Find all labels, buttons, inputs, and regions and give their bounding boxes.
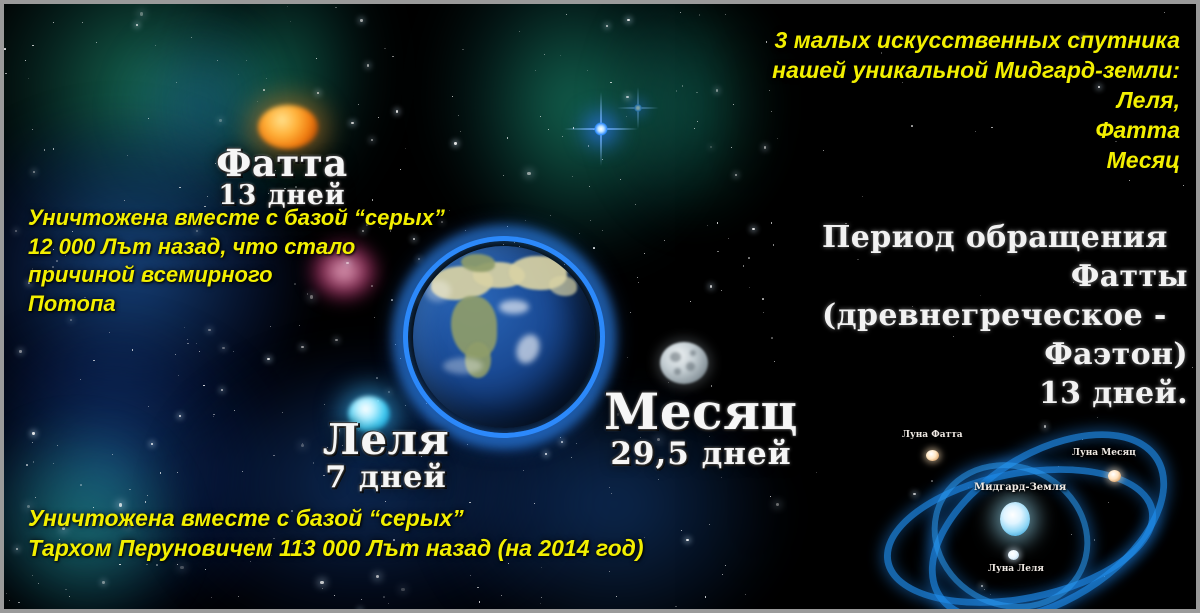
caption-lelya-destroyed: Уничтожена вместе с базой “серых” Тархом… xyxy=(28,504,644,564)
star xyxy=(400,169,401,170)
star xyxy=(367,64,369,66)
moon-crater xyxy=(670,352,681,362)
star xyxy=(155,45,156,46)
moon-mesyac-sphere xyxy=(660,342,708,384)
star xyxy=(102,581,104,583)
star-spike-horizontal xyxy=(564,128,638,130)
star xyxy=(238,74,240,76)
star xyxy=(449,210,450,211)
star xyxy=(35,497,36,498)
star xyxy=(392,56,394,58)
star-spike-vertical xyxy=(600,92,602,166)
star xyxy=(681,530,682,531)
orbit-diagram: Луна Фатта Луна Месяц Мидгард-Земля Луна… xyxy=(876,424,1188,610)
star xyxy=(32,432,34,434)
star xyxy=(686,539,688,541)
star xyxy=(690,301,691,302)
star xyxy=(470,575,471,576)
star xyxy=(53,463,54,464)
star xyxy=(358,104,359,105)
star xyxy=(541,567,542,568)
star xyxy=(862,196,863,197)
star xyxy=(147,495,148,496)
star xyxy=(566,14,567,15)
star xyxy=(709,524,710,525)
star xyxy=(136,24,138,26)
star xyxy=(525,220,526,221)
nebula-blue-cloud xyxy=(4,334,274,609)
star xyxy=(299,325,300,326)
star xyxy=(19,350,21,352)
star xyxy=(579,233,580,234)
star xyxy=(401,588,404,591)
star xyxy=(627,357,629,359)
star xyxy=(764,146,766,148)
star xyxy=(196,343,197,344)
star xyxy=(160,472,162,474)
star xyxy=(53,148,55,150)
star xyxy=(696,92,698,94)
star xyxy=(238,596,239,597)
star xyxy=(129,489,131,491)
star xyxy=(53,22,54,23)
period-line-4: Фаэтон) xyxy=(822,335,1188,374)
star xyxy=(388,391,390,393)
star xyxy=(766,41,768,43)
star-core xyxy=(594,122,608,136)
star xyxy=(523,470,525,472)
star xyxy=(587,70,588,71)
star xyxy=(611,493,613,495)
star xyxy=(217,60,218,61)
star xyxy=(242,471,243,472)
star xyxy=(588,145,590,147)
star xyxy=(540,116,541,117)
star xyxy=(16,548,18,550)
star xyxy=(548,129,549,130)
star xyxy=(763,312,764,313)
star xyxy=(816,472,817,473)
star xyxy=(15,230,17,232)
star xyxy=(9,600,11,602)
star xyxy=(748,257,750,259)
bright-star-blue xyxy=(564,92,638,166)
star xyxy=(184,327,185,328)
star xyxy=(728,238,730,240)
star xyxy=(6,593,7,594)
star xyxy=(322,588,323,589)
period-line-3: (древнегреческое - xyxy=(822,296,1188,335)
star xyxy=(335,339,337,341)
star xyxy=(383,596,385,598)
star xyxy=(540,603,542,605)
star xyxy=(313,462,315,464)
star xyxy=(573,127,575,129)
star xyxy=(1192,367,1193,368)
star xyxy=(710,146,712,148)
star xyxy=(70,319,72,321)
star xyxy=(211,597,212,598)
diagram-label-lelya: Луна Леля xyxy=(988,564,1044,574)
star xyxy=(82,22,83,23)
star xyxy=(221,389,223,391)
star xyxy=(388,603,389,604)
star xyxy=(609,571,610,572)
star xyxy=(544,54,545,55)
star xyxy=(213,414,215,416)
star xyxy=(725,14,726,15)
star xyxy=(454,142,456,144)
star xyxy=(576,443,577,444)
star xyxy=(721,290,722,291)
star xyxy=(32,129,33,130)
star xyxy=(146,564,148,566)
star xyxy=(178,375,179,376)
star xyxy=(112,454,113,455)
star xyxy=(602,159,604,161)
moon-period-lelya: 7 дней xyxy=(316,462,456,493)
star xyxy=(351,122,353,124)
star xyxy=(96,42,97,43)
star xyxy=(545,453,547,455)
diagram-label-mesyac: Луна Месяц xyxy=(1072,448,1136,458)
moon-label-mesyac: Месяц 29,5 дней xyxy=(596,386,806,470)
star xyxy=(710,285,712,287)
star xyxy=(263,89,265,91)
star xyxy=(287,6,288,7)
star xyxy=(371,139,373,141)
star xyxy=(733,104,734,105)
star xyxy=(676,90,678,92)
star xyxy=(507,137,509,139)
star xyxy=(560,437,561,438)
star xyxy=(148,406,149,407)
star xyxy=(541,597,542,598)
star xyxy=(616,596,618,598)
cloud-band xyxy=(443,358,483,374)
star xyxy=(132,349,134,351)
star xyxy=(38,583,40,585)
bright-star-blue-small xyxy=(616,86,660,130)
star xyxy=(735,174,737,176)
star xyxy=(191,37,192,38)
star xyxy=(721,477,722,478)
star xyxy=(771,337,773,339)
star xyxy=(762,298,764,300)
star xyxy=(384,48,386,50)
star xyxy=(32,45,34,47)
star xyxy=(626,96,628,98)
star xyxy=(745,594,746,595)
moon-name-mesyac: Месяц xyxy=(596,386,806,438)
star xyxy=(208,329,210,331)
star xyxy=(267,358,269,360)
star xyxy=(560,55,561,56)
star xyxy=(320,581,323,584)
diagram-moon-fatta xyxy=(926,450,939,461)
star xyxy=(620,179,621,180)
star xyxy=(752,228,754,230)
star xyxy=(151,443,153,445)
star xyxy=(460,131,461,132)
star xyxy=(405,148,406,149)
star xyxy=(57,445,58,446)
star xyxy=(5,73,7,75)
star xyxy=(26,464,28,466)
star xyxy=(593,129,594,130)
star xyxy=(501,595,502,596)
star xyxy=(396,110,398,112)
star xyxy=(680,12,681,13)
star xyxy=(717,222,719,224)
star xyxy=(205,569,206,570)
star xyxy=(376,575,379,578)
star xyxy=(561,441,563,443)
star xyxy=(590,220,591,221)
period-line-1: Период обращения xyxy=(822,218,1188,257)
caption-satellites-list: 3 малых искусственных спутника нашей уни… xyxy=(772,26,1180,175)
star-spike-vertical xyxy=(637,87,639,129)
poster-canvas: Фатта 13 дней Леля 7 дней Месяц 29,5 дне… xyxy=(0,0,1200,613)
star xyxy=(519,31,520,32)
star xyxy=(705,596,707,598)
diagram-label-midgard: Мидгард-Земля xyxy=(974,482,1066,493)
star xyxy=(462,49,464,51)
star xyxy=(477,587,479,589)
period-line-5: 13 дней. xyxy=(822,374,1188,413)
star xyxy=(246,60,247,61)
cloud-band xyxy=(499,300,529,314)
star xyxy=(743,265,745,267)
star xyxy=(1164,12,1165,13)
star xyxy=(213,416,214,417)
moon-name-fatta: Фатта xyxy=(212,144,352,182)
period-line-2: Фатты xyxy=(822,257,1188,296)
star xyxy=(467,444,468,445)
star xyxy=(626,116,627,117)
star xyxy=(773,244,775,246)
star xyxy=(180,566,183,569)
star xyxy=(145,501,147,503)
star xyxy=(675,606,677,608)
star xyxy=(32,442,33,443)
star xyxy=(44,149,46,151)
star xyxy=(290,21,292,23)
star xyxy=(317,92,319,94)
star xyxy=(187,339,188,340)
star xyxy=(589,186,590,187)
star xyxy=(627,19,629,21)
star xyxy=(140,12,143,15)
moon-crater xyxy=(686,362,695,371)
moon-label-fatta: Фатта 13 дней xyxy=(212,144,352,210)
star xyxy=(697,121,698,122)
star xyxy=(335,7,337,9)
star xyxy=(571,457,572,458)
cloud-band xyxy=(512,331,544,367)
star xyxy=(32,575,33,576)
star xyxy=(717,251,719,253)
star xyxy=(769,90,770,91)
diagram-moon-mesyac xyxy=(1108,470,1121,482)
star xyxy=(658,479,659,480)
star xyxy=(148,118,149,119)
star xyxy=(609,487,610,488)
diagram-moon-lelya xyxy=(1008,550,1019,560)
star xyxy=(360,19,362,21)
star xyxy=(273,455,275,457)
star xyxy=(707,225,708,226)
caption-fatta-destroyed: Уничтожена вместе с базой “серых” 12 000… xyxy=(28,204,445,318)
star xyxy=(458,115,459,116)
star xyxy=(606,25,608,27)
moon-crater xyxy=(674,368,681,375)
star xyxy=(716,89,718,91)
star xyxy=(119,564,121,566)
star xyxy=(637,277,639,279)
star xyxy=(18,602,20,604)
star xyxy=(694,128,695,129)
star xyxy=(324,404,325,405)
star xyxy=(4,48,6,50)
star xyxy=(199,351,200,352)
star xyxy=(65,589,67,591)
star xyxy=(282,412,283,413)
star xyxy=(602,230,603,231)
diagram-label-fatta: Луна Фатта xyxy=(902,430,963,440)
star xyxy=(93,360,95,362)
star xyxy=(503,175,504,176)
star xyxy=(33,461,35,463)
star xyxy=(550,215,552,217)
star xyxy=(1183,185,1184,186)
moon-name-lelya: Леля xyxy=(316,418,456,462)
nebula-green-cloud xyxy=(604,4,784,234)
fatta-period-textblock: Период обращения Фатты (древнегреческое … xyxy=(822,218,1188,413)
star xyxy=(572,176,574,178)
star xyxy=(378,117,379,118)
star xyxy=(638,282,639,283)
star xyxy=(175,354,176,355)
star xyxy=(25,60,26,61)
star xyxy=(682,85,684,87)
star xyxy=(176,82,177,83)
star xyxy=(266,78,267,79)
star xyxy=(385,501,386,502)
star xyxy=(80,379,81,380)
star xyxy=(124,200,126,202)
star xyxy=(177,472,178,473)
star xyxy=(270,326,271,327)
star xyxy=(302,443,303,444)
star xyxy=(535,70,536,71)
star xyxy=(635,204,637,206)
moon-period-mesyac: 29,5 дней xyxy=(596,438,806,470)
star xyxy=(405,405,407,407)
star xyxy=(725,565,726,566)
star xyxy=(127,155,128,156)
star xyxy=(664,240,665,241)
star xyxy=(301,346,303,348)
star xyxy=(234,410,235,411)
star xyxy=(527,172,530,175)
star xyxy=(1129,180,1130,181)
star xyxy=(80,484,82,486)
star xyxy=(28,78,29,79)
star xyxy=(316,58,317,59)
moon-label-lelya: Леля 7 дней xyxy=(316,418,456,493)
star xyxy=(179,415,181,417)
star xyxy=(610,82,612,84)
star xyxy=(203,385,205,387)
diagram-midgard-earth xyxy=(1000,502,1030,536)
star xyxy=(301,444,304,447)
star xyxy=(630,312,631,313)
star xyxy=(731,147,732,148)
star xyxy=(644,253,645,254)
star xyxy=(179,187,181,189)
star xyxy=(233,351,235,353)
star xyxy=(774,361,775,362)
star xyxy=(699,14,701,16)
star xyxy=(722,574,723,575)
star xyxy=(33,171,35,173)
star xyxy=(376,377,378,379)
star xyxy=(452,96,454,98)
star xyxy=(361,599,362,600)
star xyxy=(156,564,158,566)
star xyxy=(562,136,563,137)
star xyxy=(749,287,750,288)
star xyxy=(372,199,374,201)
star xyxy=(219,119,221,121)
star xyxy=(770,496,772,498)
landmass-east-asia xyxy=(549,276,577,296)
star xyxy=(479,601,481,603)
star xyxy=(1097,417,1098,418)
star xyxy=(69,596,70,597)
star xyxy=(771,222,773,224)
star xyxy=(207,196,208,197)
star xyxy=(257,101,258,102)
star xyxy=(187,343,189,345)
star xyxy=(776,503,779,506)
moon-crater xyxy=(690,350,696,356)
star-spike-horizontal xyxy=(617,107,659,109)
star xyxy=(109,332,110,333)
star xyxy=(222,347,224,349)
star-core xyxy=(634,104,642,112)
star xyxy=(334,595,335,596)
